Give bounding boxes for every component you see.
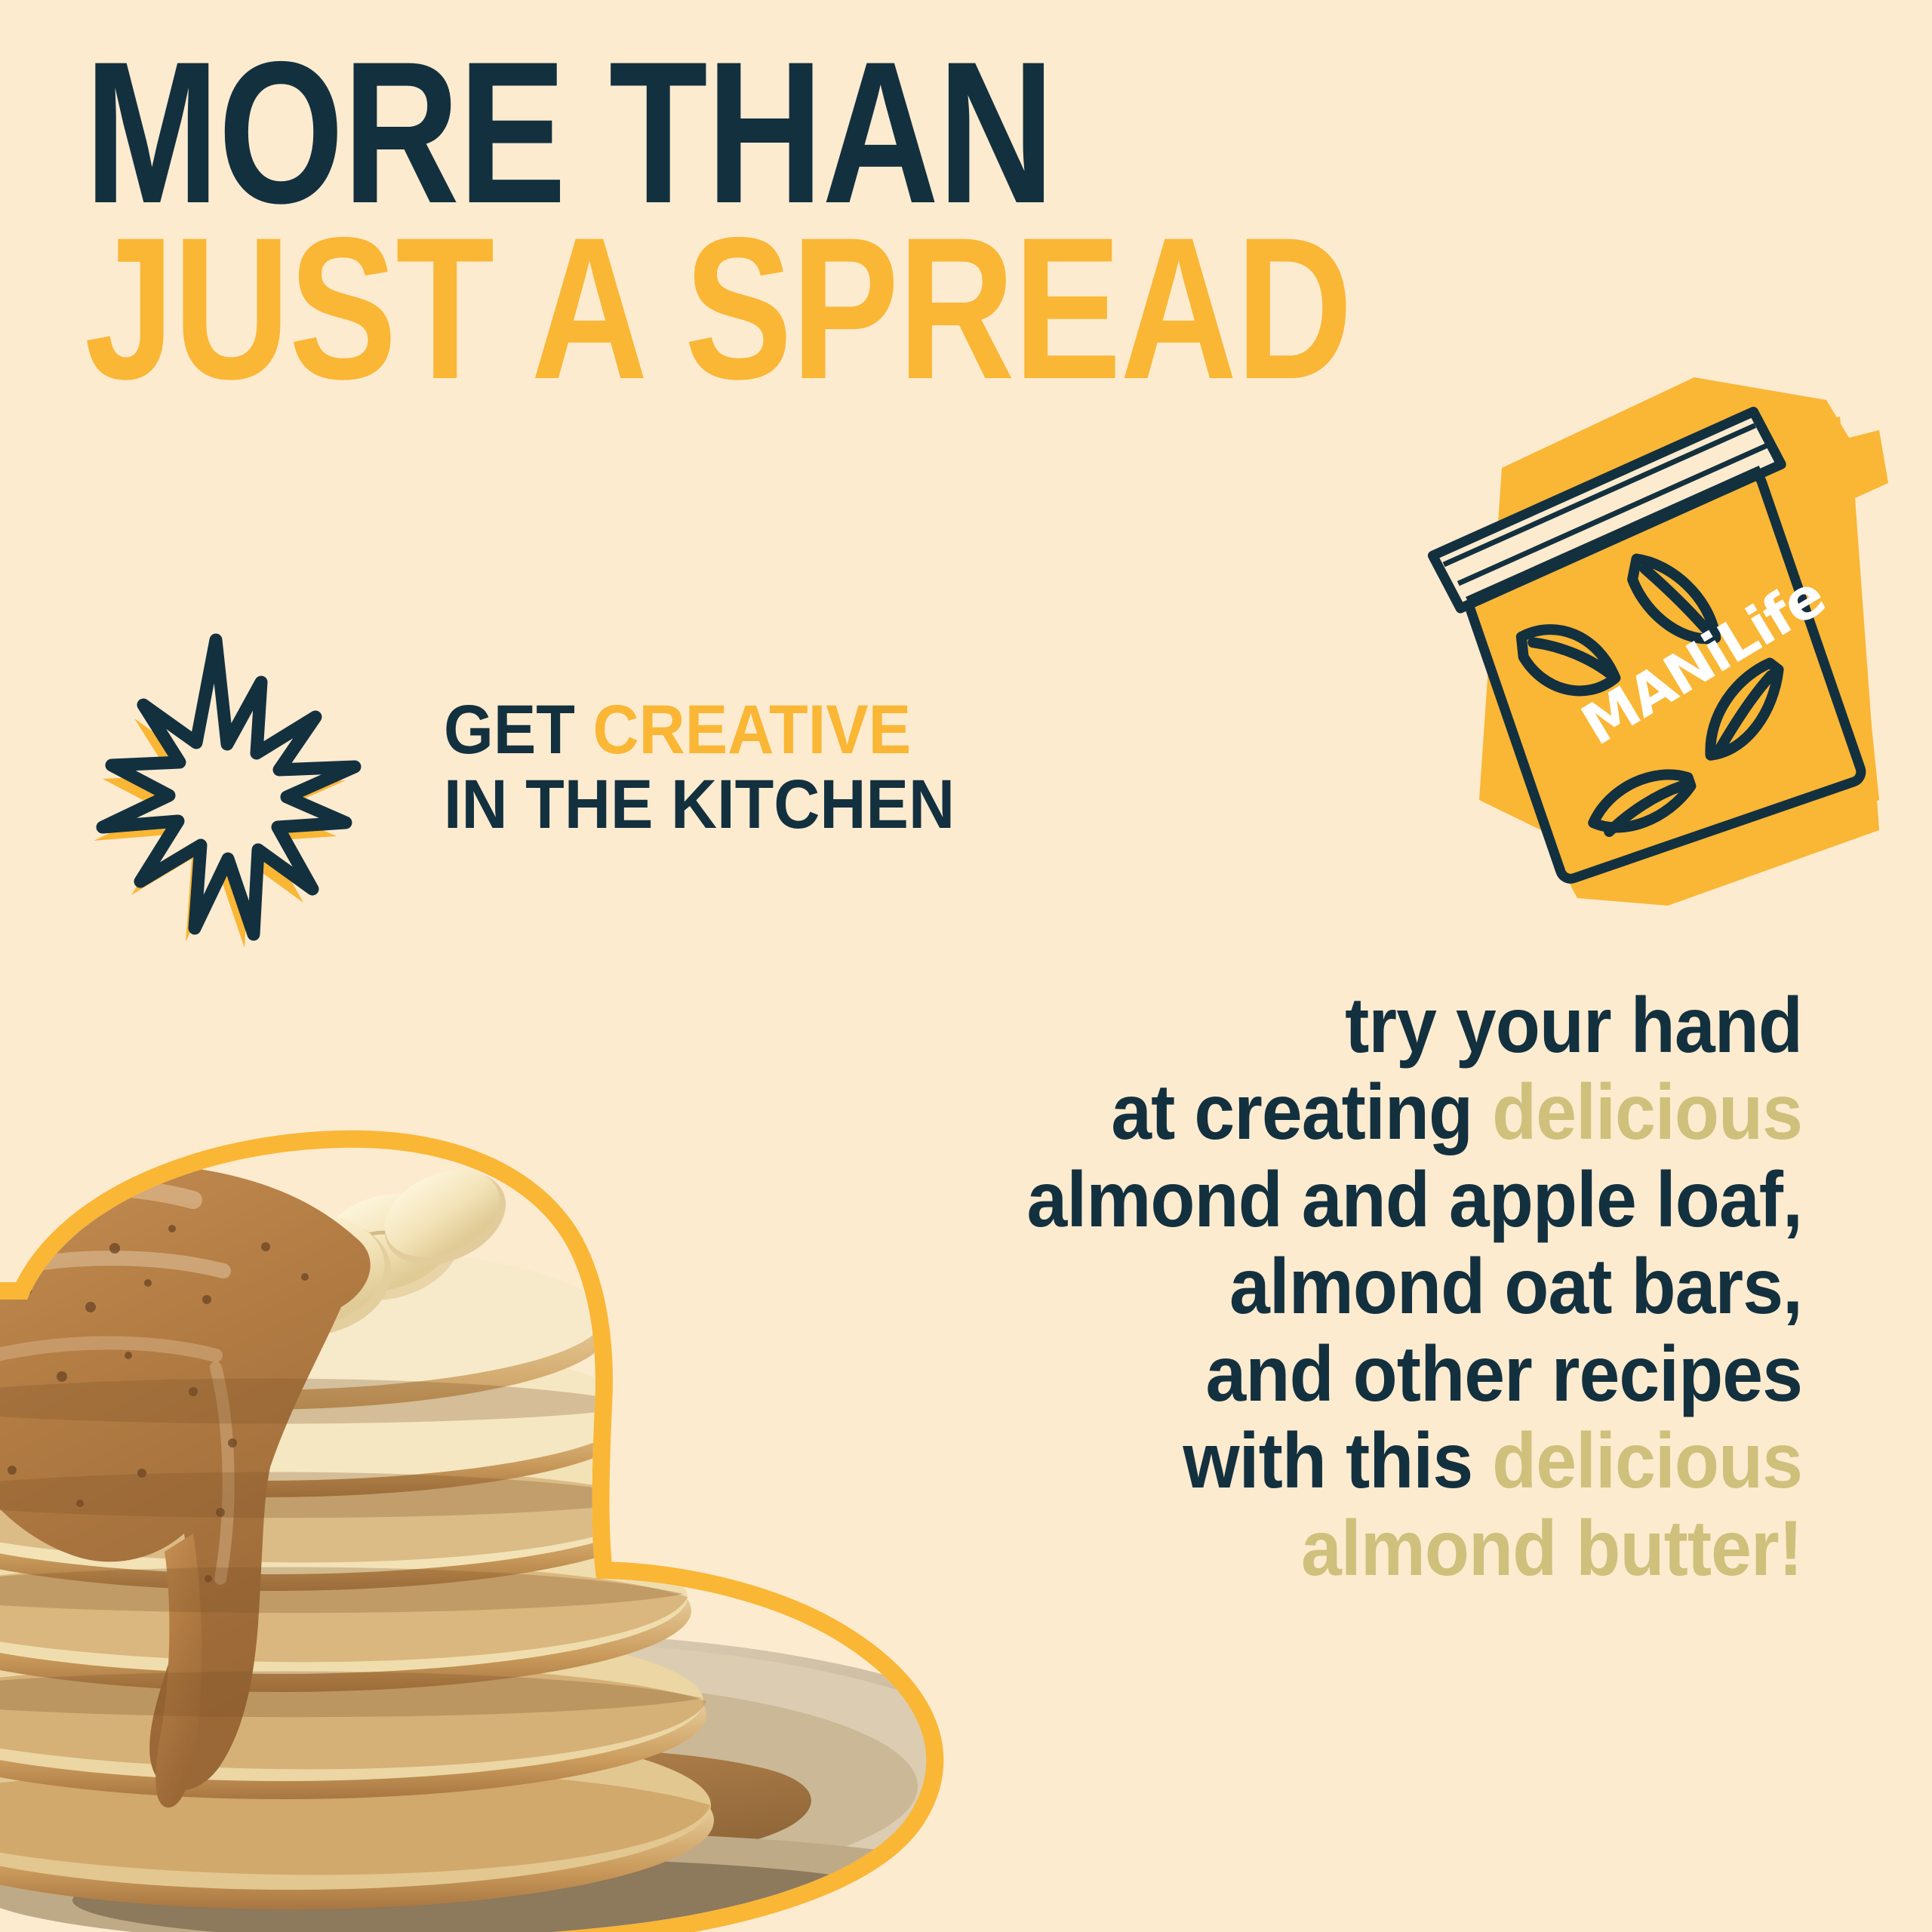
subhead-get: GET (444, 691, 593, 768)
subhead-creative: CREATIVE (593, 691, 912, 768)
photo-content (0, 1051, 1250, 1932)
subhead-line-2: IN THE KITCHEN (444, 768, 1138, 842)
poster-canvas: MORE THAN JUST A SPREAD GET CREATIVE IN … (0, 0, 1932, 1932)
body-line-6-soft: delicious (1492, 1417, 1802, 1505)
headline-block: MORE THAN JUST A SPREAD (85, 39, 1518, 401)
body-line-2-soft: delicious (1492, 1069, 1802, 1156)
pancake-stack-photo (0, 1051, 1250, 1932)
subhead-block: GET CREATIVE IN THE KITCHEN (444, 693, 1198, 843)
almond-butter-jar-icon: MANiLife (1351, 377, 1924, 966)
headline-line-2: JUST A SPREAD (85, 215, 1232, 401)
starburst-icon (89, 632, 368, 949)
subhead-line-1: GET CREATIVE (444, 693, 1138, 768)
